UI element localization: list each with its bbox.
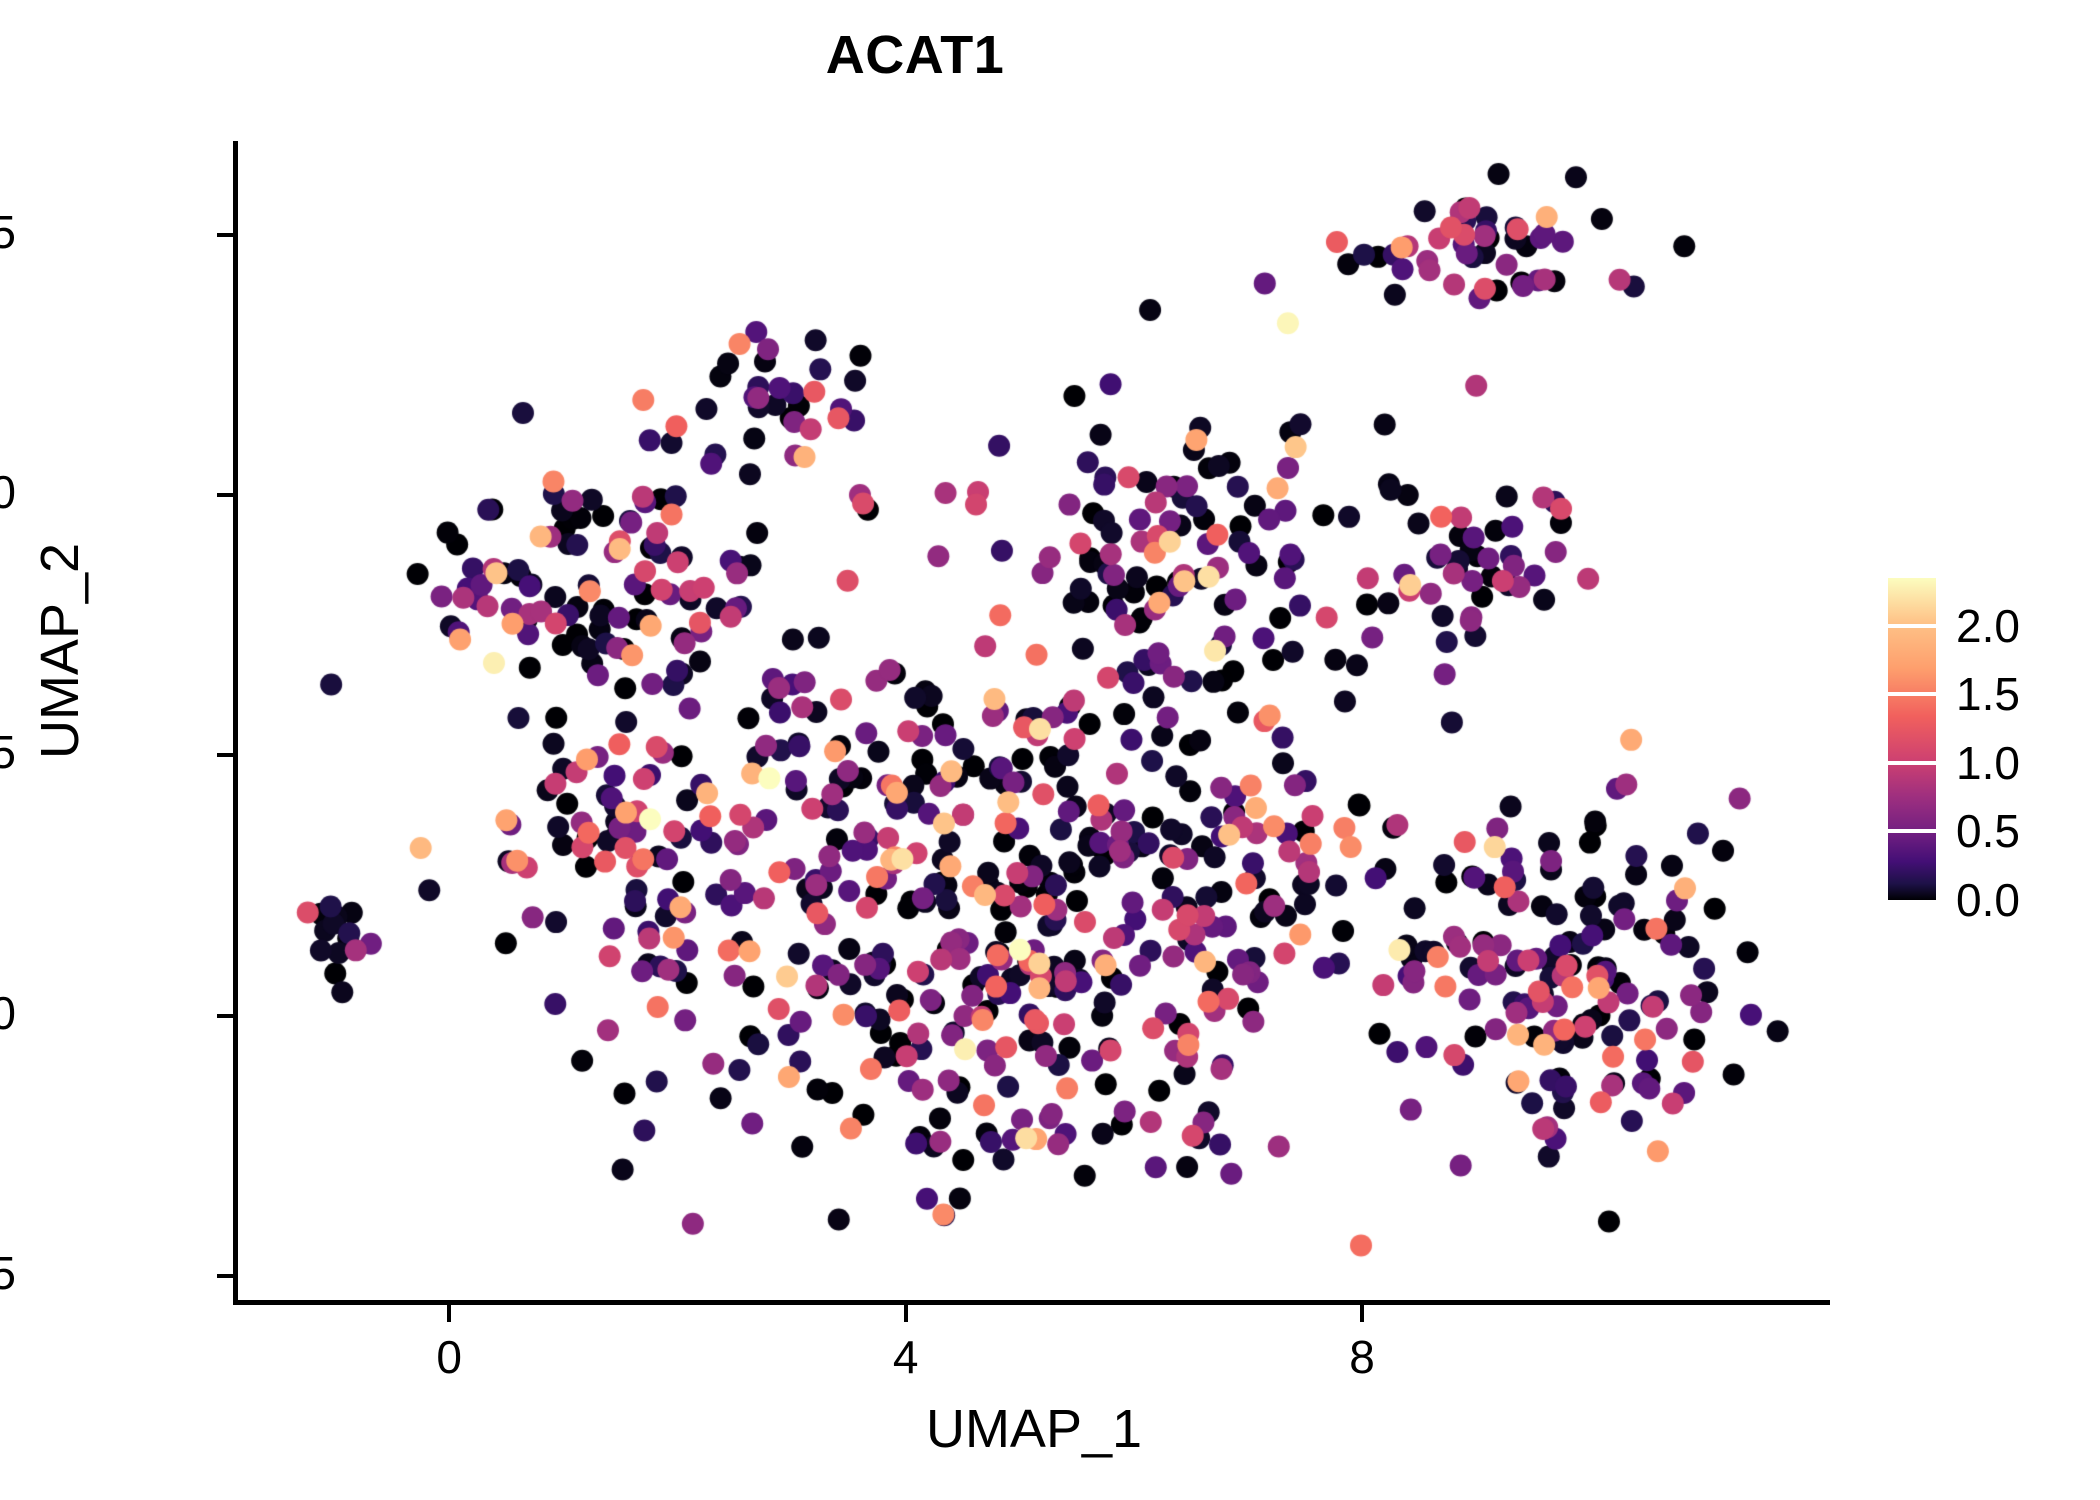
y-tick-mark [217, 753, 234, 757]
y-tick-label: 5.0 [0, 465, 16, 519]
y-tick-mark [217, 233, 234, 237]
legend-tick-label: 1.0 [1956, 736, 2020, 790]
chart-page: ACAT1 UMAP_2 UMAP_1 -2.50.02.55.07.5048 … [0, 0, 2100, 1500]
legend-tick-mark [1888, 761, 1936, 765]
plot-panel [238, 141, 1830, 1302]
legend-tick-label: 0.5 [1956, 804, 2020, 858]
y-tick-label: 2.5 [0, 725, 16, 779]
legend-tick-mark [1888, 692, 1936, 696]
y-tick-mark [217, 1014, 234, 1018]
x-tick-mark [1360, 1305, 1364, 1322]
x-tick-mark [447, 1305, 451, 1322]
page-title: ACAT1 [0, 24, 1830, 86]
x-axis-title: UMAP_1 [238, 1398, 1830, 1460]
x-tick-label: 8 [1349, 1330, 1375, 1384]
x-tick-label: 4 [893, 1330, 919, 1384]
color-legend: 0.00.51.01.52.0 [1888, 578, 2088, 908]
y-tick-label: 0.0 [0, 986, 16, 1040]
y-tick-label: -2.5 [0, 1246, 16, 1300]
x-tick-label: 0 [436, 1330, 462, 1384]
y-tick-mark [217, 493, 234, 497]
legend-tick-label: 2.0 [1956, 599, 2020, 653]
legend-tick-mark [1888, 624, 1936, 628]
x-axis-line [233, 1300, 1830, 1305]
y-tick-mark [217, 1274, 234, 1278]
y-tick-label: 7.5 [0, 205, 16, 259]
x-tick-mark [904, 1305, 908, 1322]
y-axis-line [233, 141, 238, 1305]
y-axis-title: UMAP_2 [29, 351, 91, 951]
legend-tick-mark [1888, 829, 1936, 833]
legend-tick-label: 1.5 [1956, 667, 2020, 721]
legend-tick-label: 0.0 [1956, 873, 2020, 927]
scatter-plot-canvas [238, 141, 1830, 1302]
